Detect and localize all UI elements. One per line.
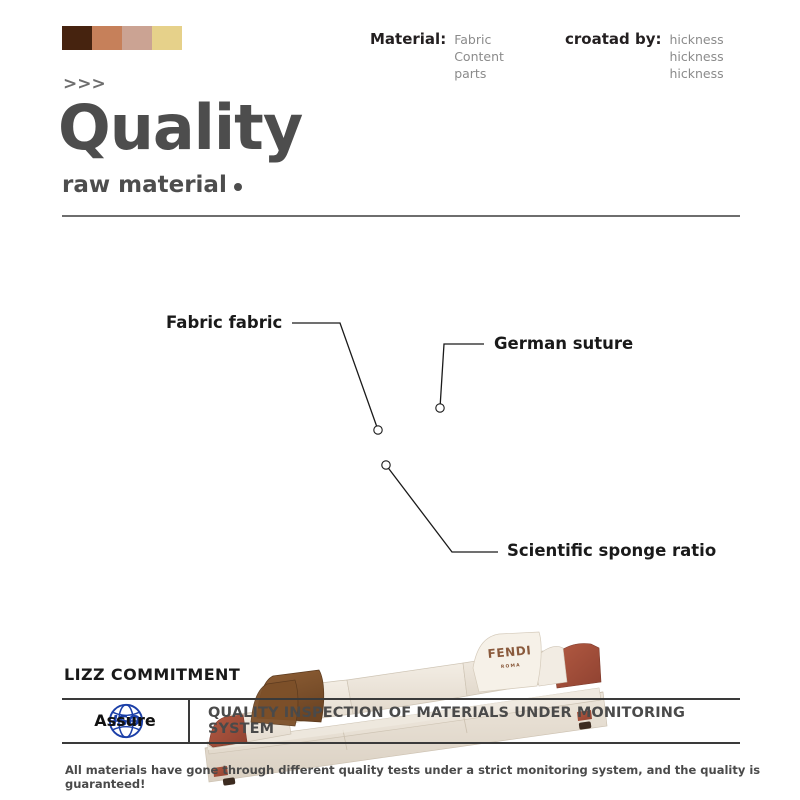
commitment-box: ISO Assure QUALITY INSPECTION OF MATERIA…: [62, 698, 740, 744]
spec-material-values: Fabric Content parts: [454, 31, 504, 82]
color-swatch-1: [62, 26, 92, 50]
quality-raw-material-page: Material: Fabric Content parts croatad b…: [0, 0, 800, 800]
callout-label-sponge: Scientific sponge ratio: [507, 541, 716, 560]
spec-created-by-value: hickness: [669, 48, 723, 65]
color-swatch-3: [122, 26, 152, 50]
spec-material-value: parts: [454, 65, 504, 82]
header-divider: [62, 215, 740, 217]
spec-material-value: Content: [454, 48, 504, 65]
page-title: Quality: [58, 94, 302, 162]
assure-iso-logo: ISO Assure: [77, 701, 173, 741]
commitment-logo-cell: ISO Assure: [62, 700, 190, 742]
commitment-statement-cell: QUALITY INSPECTION OF MATERIALS UNDER MO…: [190, 700, 740, 742]
spec-created-by-value: hickness: [669, 65, 723, 82]
color-swatch-strip: [62, 26, 182, 50]
spec-material-value: Fabric: [454, 31, 504, 48]
page-subtitle: raw material: [62, 172, 227, 198]
assure-wordmark: Assure: [77, 712, 173, 730]
callout-label-suture: German suture: [494, 334, 633, 353]
spec-material: Material: Fabric Content parts: [370, 31, 504, 82]
bullet-dot-icon: [234, 183, 242, 191]
commitment-title: LIZZ COMMITMENT: [64, 665, 240, 684]
commitment-footnote: All materials have gone through differen…: [65, 763, 800, 791]
spec-material-label: Material:: [370, 31, 446, 48]
commitment-statement: QUALITY INSPECTION OF MATERIALS UNDER MO…: [208, 705, 740, 737]
spec-created-by-values: hickness hickness hickness: [669, 31, 723, 82]
spec-created-by-value: hickness: [669, 31, 723, 48]
color-swatch-4: [152, 26, 182, 50]
spec-created-by-label: croatad by:: [565, 31, 661, 48]
color-swatch-2: [92, 26, 122, 50]
spec-created-by: croatad by: hickness hickness hickness: [565, 31, 724, 82]
fendi-pillow: FENDI ROMA: [473, 632, 541, 692]
callout-label-fabric: Fabric fabric: [166, 313, 282, 332]
